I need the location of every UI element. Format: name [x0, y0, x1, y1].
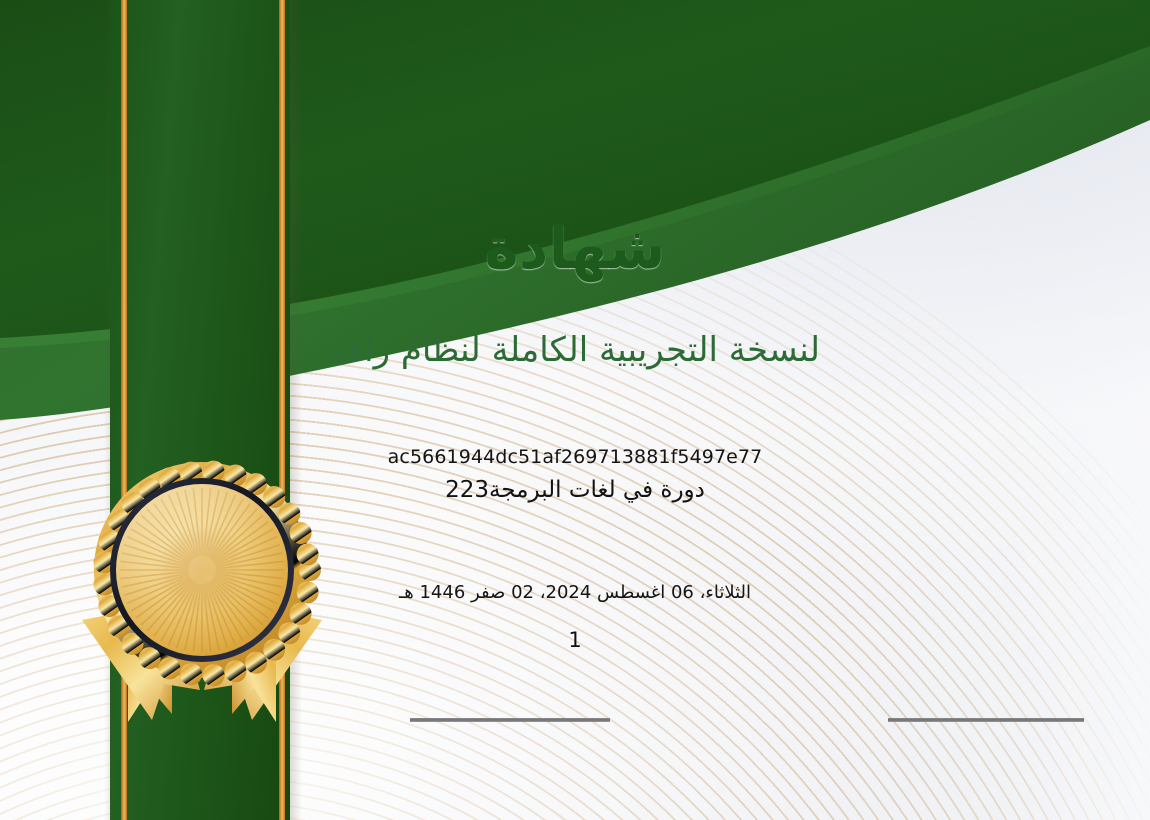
serial-number: 1 [0, 628, 1150, 652]
issue-date: الثلاثاء، 06 اغسطس 2024، 02 صفر 1446 هـ [0, 582, 1150, 603]
signature-line-right [888, 718, 1084, 722]
certificate-hash: ac5661944dc51af269713881f5497e77 [0, 446, 1150, 468]
certificate-subtitle: لنسخة التجريبية الكاملة لنظام رافد [0, 330, 1150, 370]
course-name: دورة في لغات البرمجة223 [0, 477, 1150, 503]
certificate-title: شهادة [0, 214, 1150, 282]
signature-line-left [410, 718, 610, 722]
certificate-canvas: شهادة لنسخة التجريبية الكاملة لنظام رافد… [0, 0, 1150, 820]
